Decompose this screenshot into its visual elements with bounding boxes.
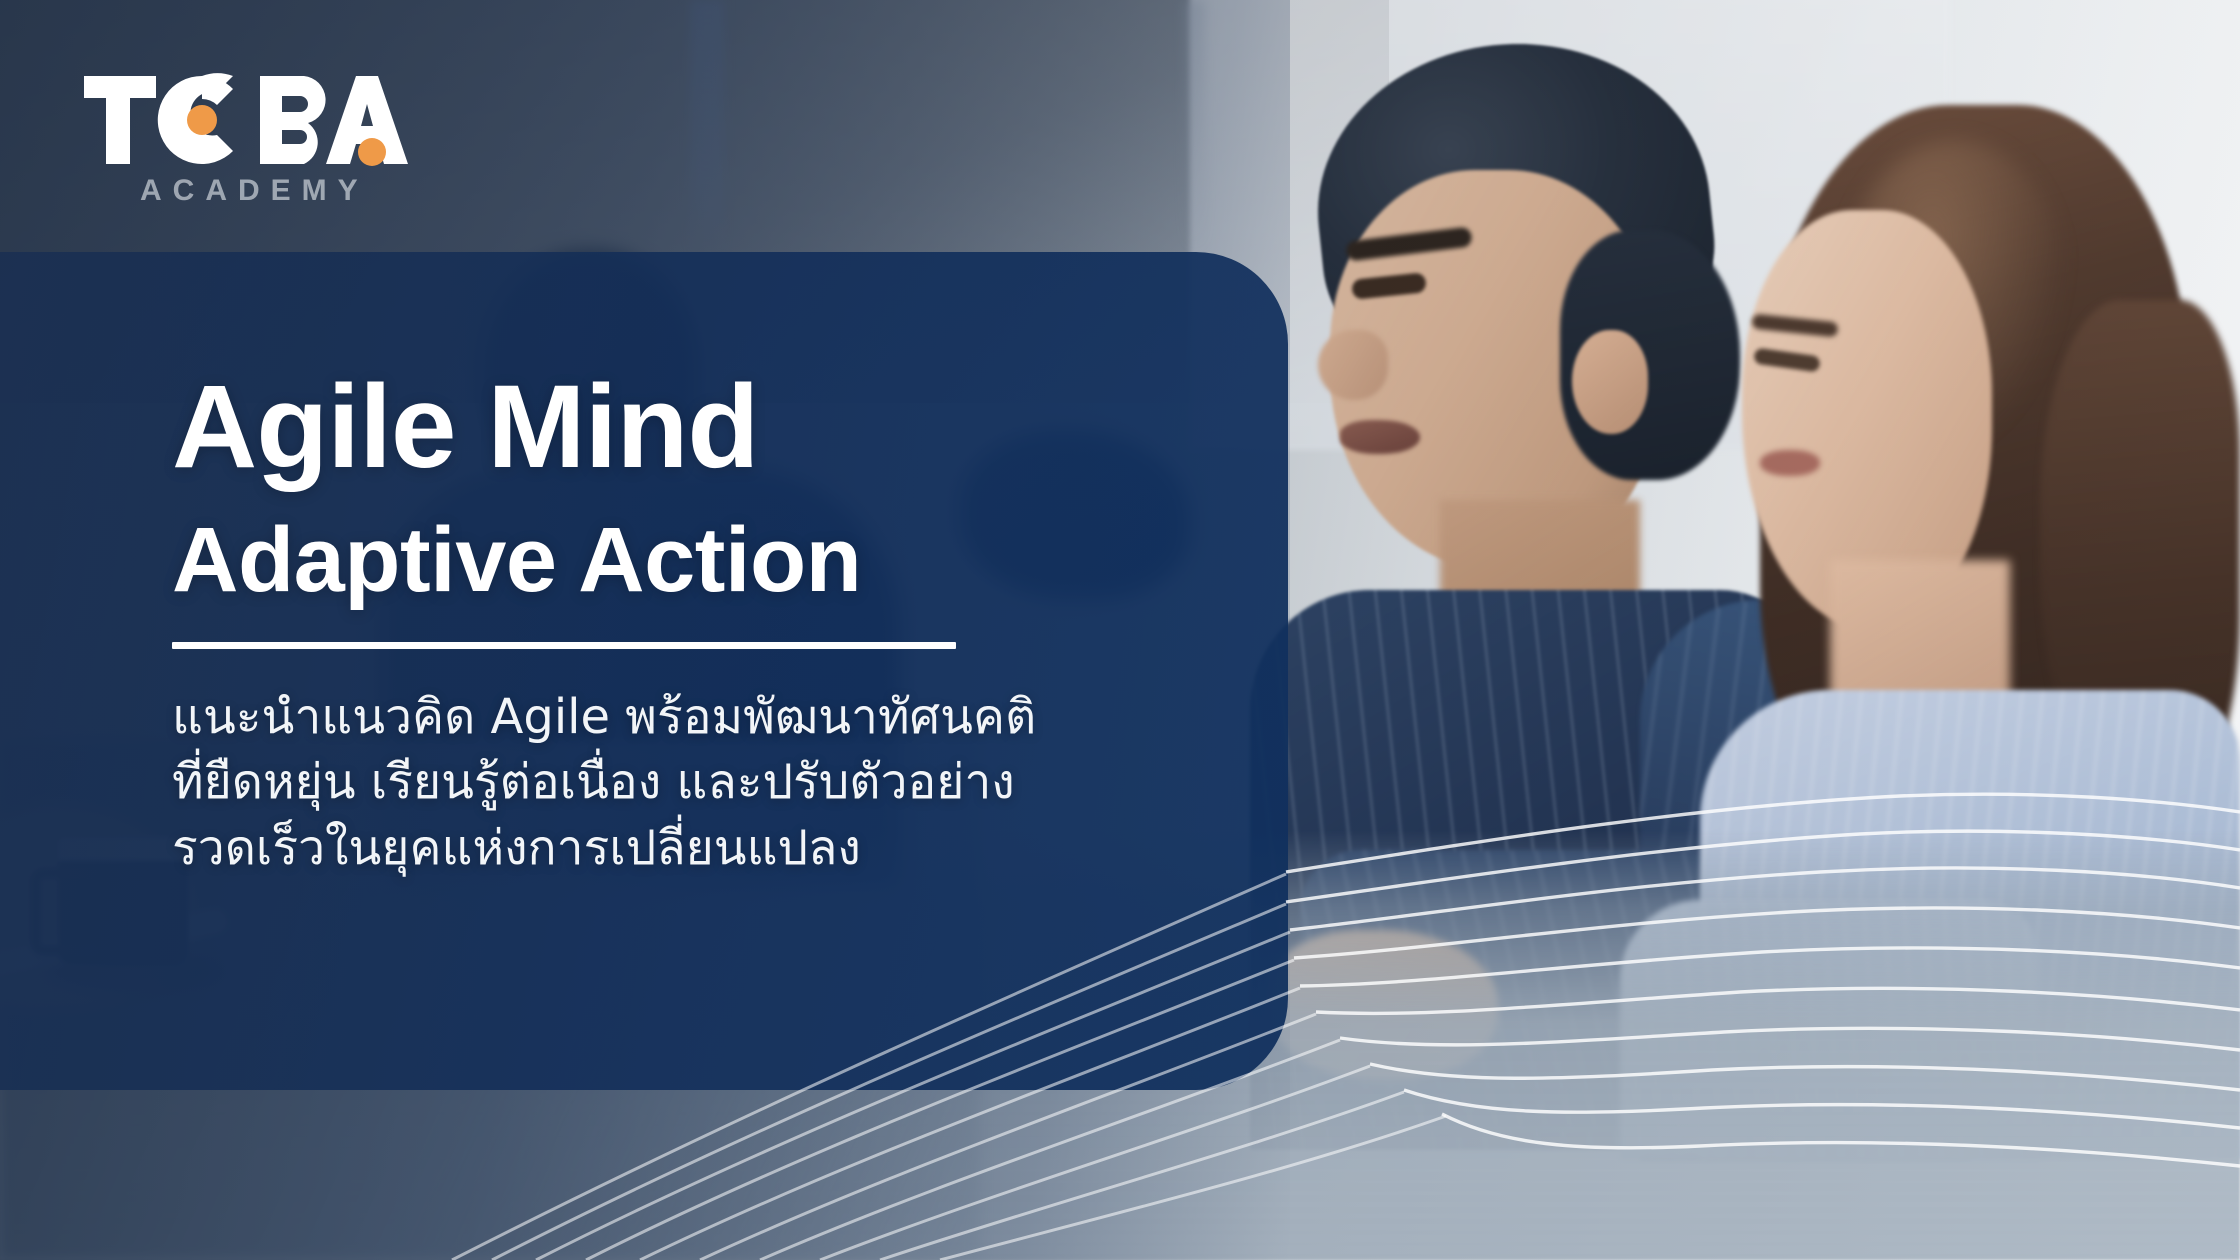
window-mullion-secondary <box>1186 0 1204 250</box>
hero-copy: Agile Mind Adaptive Action แนะนำแนวคิด A… <box>172 368 1172 881</box>
brand-logo[interactable]: ACADEMY <box>78 72 408 208</box>
hero-title-line2: Adaptive Action <box>172 514 1172 606</box>
hero-title-line1: Agile Mind <box>172 368 1172 486</box>
hero-banner: ACADEMY Agile Mind Adaptive Action แนะนำ… <box>0 0 2240 1260</box>
logo-subtitle: ACADEMY <box>140 174 408 208</box>
hero-divider <box>172 642 956 649</box>
woman-lips <box>1760 450 1820 476</box>
logo-accent-dot-c <box>187 105 217 135</box>
logo-accent-dot-a <box>358 138 386 166</box>
hero-description-line-1: แนะนำแนวคิด Agile พร้อมพัฒนาทัศนคติ <box>172 685 1172 750</box>
hero-description-line-2: ที่ยืดหยุ่น เรียนรู้ต่อเนื่อง และปรับตัว… <box>172 750 1172 815</box>
man-mouth <box>1340 420 1420 454</box>
hero-description-line-3: รวดเร็วในยุคแห่งการเปลี่ยนแปลง <box>172 816 1172 881</box>
man-nose <box>1318 330 1388 400</box>
man-ear <box>1572 330 1648 434</box>
tcba-logo-mark <box>78 72 408 168</box>
window-mullion <box>690 0 724 258</box>
hero-description: แนะนำแนวคิด Agile พร้อมพัฒนาทัศนคติ ที่ย… <box>172 685 1172 881</box>
